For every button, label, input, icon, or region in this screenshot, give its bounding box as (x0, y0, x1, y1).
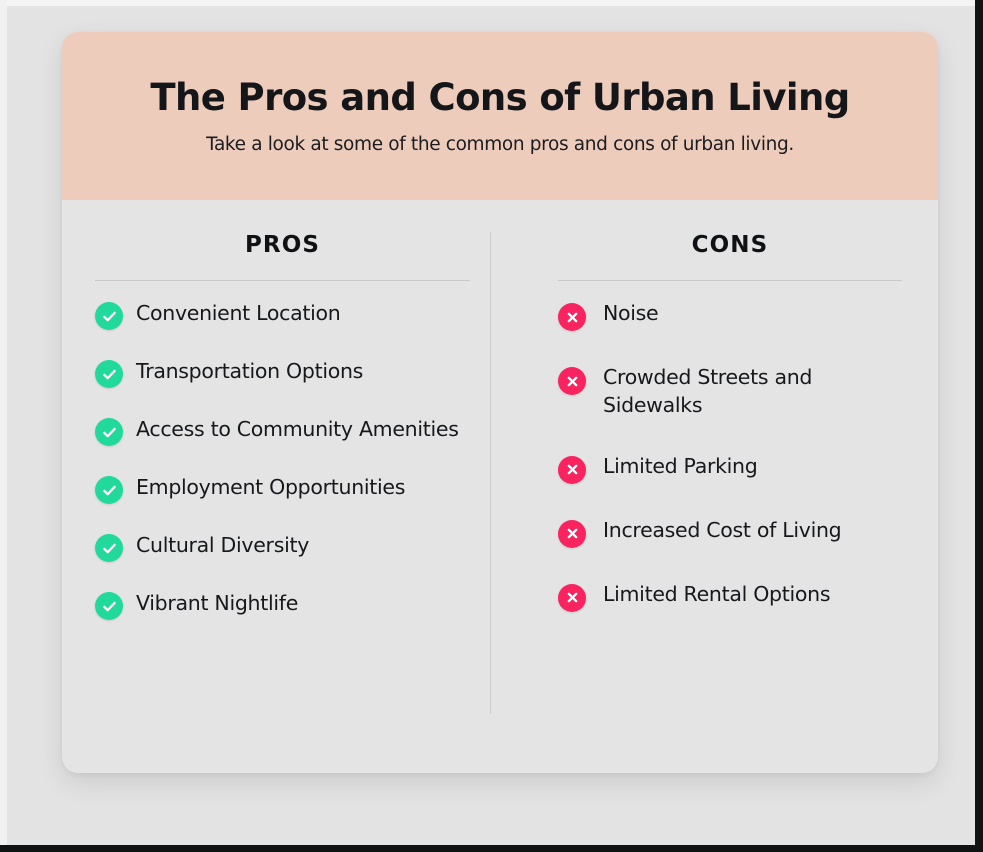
list-item: Noise (558, 300, 902, 331)
frame-edge-right (975, 0, 983, 852)
list-item-label: Increased Cost of Living (603, 517, 841, 545)
check-circle-icon (95, 302, 123, 330)
x-circle-icon (558, 584, 586, 612)
pros-column-heading: PROS (95, 232, 470, 258)
list-item: Convenient Location (95, 300, 470, 330)
x-circle-icon (558, 456, 586, 484)
column-divider (490, 232, 491, 714)
cons-list: Noise Crowded Streets and Sidewalks (558, 300, 902, 612)
list-item-label: Limited Rental Options (603, 581, 830, 609)
page-background: The Pros and Cons of Urban Living Take a… (0, 0, 983, 852)
pros-and-cons-card: The Pros and Cons of Urban Living Take a… (62, 32, 938, 773)
pros-list: Convenient Location Transportation Optio… (95, 300, 470, 620)
card-header: The Pros and Cons of Urban Living Take a… (62, 32, 938, 200)
list-item-label: Cultural Diversity (136, 532, 309, 560)
cons-column: CONS Noise (500, 200, 938, 773)
frame-edge-bottom (0, 845, 983, 852)
list-item-label: Employment Opportunities (136, 474, 405, 502)
list-item: Vibrant Nightlife (95, 590, 470, 620)
check-circle-icon (95, 418, 123, 446)
x-circle-icon (558, 367, 586, 395)
check-circle-icon (95, 360, 123, 388)
list-item: Employment Opportunities (95, 474, 470, 504)
page-subtitle: Take a look at some of the common pros a… (206, 134, 794, 155)
list-item: Limited Rental Options (558, 581, 902, 612)
list-item: Crowded Streets and Sidewalks (558, 364, 902, 420)
check-circle-icon (95, 592, 123, 620)
x-circle-icon (558, 520, 586, 548)
card-body: PROS Convenient Location (62, 200, 938, 773)
list-item: Increased Cost of Living (558, 517, 902, 548)
list-item-label: Access to Community Amenities (136, 416, 459, 444)
list-item-label: Transportation Options (136, 358, 363, 386)
list-item-label: Vibrant Nightlife (136, 590, 298, 618)
x-circle-icon (558, 303, 586, 331)
cons-heading-rule (558, 280, 902, 281)
list-item-label: Noise (603, 300, 658, 328)
list-item: Access to Community Amenities (95, 416, 470, 446)
list-item-label: Convenient Location (136, 300, 340, 328)
page-title: The Pros and Cons of Urban Living (150, 77, 849, 120)
pros-heading-rule (95, 280, 470, 281)
list-item-label: Limited Parking (603, 453, 757, 481)
check-circle-icon (95, 476, 123, 504)
list-item: Limited Parking (558, 453, 902, 484)
check-circle-icon (95, 534, 123, 562)
list-item: Cultural Diversity (95, 532, 470, 562)
list-item: Transportation Options (95, 358, 470, 388)
list-item-label: Crowded Streets and Sidewalks (603, 364, 902, 420)
cons-column-heading: CONS (558, 232, 902, 258)
pros-column: PROS Convenient Location (62, 200, 500, 773)
